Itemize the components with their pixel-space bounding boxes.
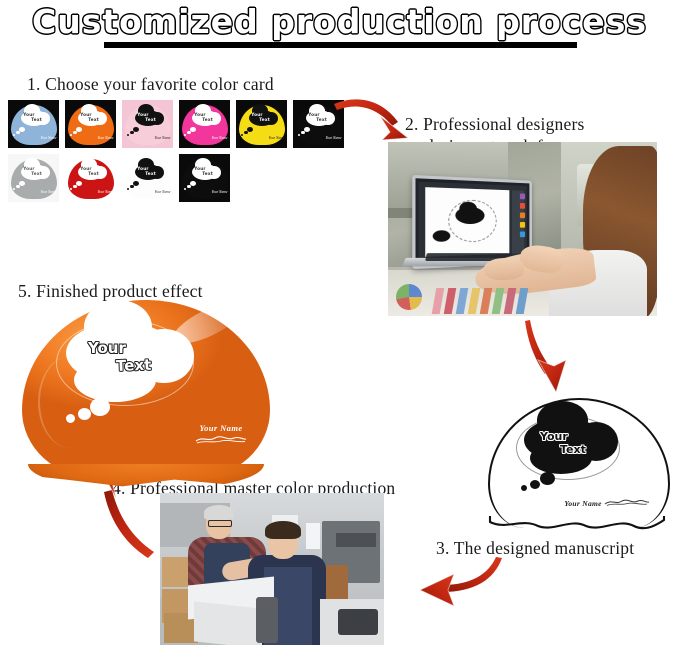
color-card-grid: YourText Your Name YourText Your Name Yo…	[8, 100, 358, 208]
laptop-display	[419, 182, 527, 263]
color-swatch	[520, 231, 525, 237]
cap-text: YourText	[80, 166, 111, 176]
bubble-dot	[66, 414, 75, 423]
color-card-row-1: YourText Your Name YourText Your Name Yo…	[8, 100, 358, 148]
bubble-dot	[130, 185, 134, 189]
printing-machine-roller	[338, 609, 378, 635]
bubble-dot	[187, 131, 191, 135]
cap-name: Your Name	[212, 190, 228, 194]
software-toolbar	[512, 190, 524, 253]
worker-senior-glasses	[208, 520, 232, 527]
bubble-dot	[16, 185, 20, 189]
cap-text: YourText	[251, 112, 282, 122]
color-card-grey[interactable]: YourText Your Name	[8, 154, 59, 202]
arrow-step2-to-step3	[524, 318, 580, 407]
cap-text: YourText	[137, 112, 168, 122]
cap-text: YourText	[194, 112, 225, 122]
cap-custom-name: Your Name	[194, 423, 248, 444]
sample-strip	[456, 288, 469, 314]
color-swatch	[520, 193, 525, 199]
sample-strip	[504, 288, 517, 314]
color-card-hot-pink[interactable]: YourText Your Name	[179, 100, 230, 148]
cap-name: Your Name	[155, 136, 171, 140]
worker-junior-hair	[265, 521, 301, 539]
bubble-dot	[73, 185, 77, 189]
printing-machine-handle	[256, 597, 278, 643]
bubble-dot	[540, 472, 555, 485]
design-software-canvas	[425, 187, 509, 257]
bubble-dot	[244, 131, 248, 135]
bubble-dot	[130, 131, 134, 135]
color-card-black-alt[interactable]: YourText Your Name	[179, 154, 230, 202]
bubble-dot	[90, 398, 110, 416]
cap-name: Your Name	[212, 136, 228, 140]
color-wheel	[396, 284, 422, 310]
cap-text: YourText	[23, 112, 54, 122]
color-sample-strips	[394, 280, 584, 314]
sample-strip	[480, 288, 493, 314]
color-card-red[interactable]: YourText Your Name	[65, 154, 116, 202]
designer-photo	[388, 142, 657, 316]
arrow-step3-to-step4	[398, 556, 504, 621]
infographic-canvas: Customized production process 1. Choose …	[0, 0, 679, 662]
cap-text: YourText	[80, 112, 111, 122]
cap-hem-outline	[488, 514, 666, 530]
finished-product-cap: YourText Your Name	[22, 300, 270, 488]
color-card-light-blue[interactable]: YourText Your Name	[8, 100, 59, 148]
bubble-dot	[530, 480, 540, 489]
cap-name: Your Name	[41, 190, 57, 194]
cap-text: YourText	[23, 166, 54, 176]
page-title: Customized production process	[0, 2, 679, 42]
color-swatch	[520, 203, 525, 209]
wave-ornament-icon	[604, 498, 650, 506]
step-1-label: 1. Choose your favorite color card	[27, 74, 274, 95]
cap-custom-name: Your Name	[564, 498, 650, 508]
cap-name: Your Name	[269, 136, 285, 140]
sample-strip	[432, 288, 445, 314]
paper-stack	[306, 523, 320, 549]
canvas-thought-bubble-small	[433, 230, 451, 242]
color-card-row-2: YourText Your Name YourText Your Name Yo…	[8, 154, 358, 202]
cap-name: Your Name	[98, 190, 114, 194]
sample-strip	[516, 288, 529, 314]
bubble-dot	[73, 131, 77, 135]
designed-manuscript-artwork: YourText Your Name	[488, 398, 666, 538]
bubble-dot	[78, 408, 91, 420]
color-card-light-pink[interactable]: YourText Your Name	[122, 100, 173, 148]
sample-strip	[444, 288, 457, 314]
color-card-yellow[interactable]: YourText Your Name	[236, 100, 287, 148]
cap-name: Your Name	[98, 136, 114, 140]
factory-machine-panel	[336, 533, 376, 547]
sample-strip	[468, 288, 481, 314]
color-swatch	[520, 222, 525, 228]
bubble-dot	[301, 131, 305, 135]
bubble-dot	[521, 485, 527, 491]
title-underline	[104, 42, 577, 48]
cap-text: YourText	[194, 166, 225, 176]
wave-ornament-icon	[194, 434, 248, 444]
step-5-label: 5. Finished product effect	[18, 281, 203, 302]
cap-name: Your Name	[155, 190, 171, 194]
page-title-text: Customized production process	[0, 2, 679, 42]
factory-photo	[160, 493, 384, 645]
bubble-dot	[16, 131, 20, 135]
color-swatch	[520, 212, 525, 218]
cap-custom-text: YourText	[88, 340, 198, 380]
bubble-dot	[187, 185, 191, 189]
worker-senior-hair	[204, 505, 234, 520]
cap-name: Your Name	[41, 136, 57, 140]
cap-text: YourText	[137, 166, 168, 176]
step-2-line-1: 2. Professional designers	[405, 114, 585, 134]
printing-machine-base	[194, 601, 262, 645]
cap-hem	[28, 464, 264, 490]
sample-strip	[492, 288, 505, 314]
color-card-white[interactable]: YourText Your Name	[122, 154, 173, 202]
color-card-orange[interactable]: YourText Your Name	[65, 100, 116, 148]
cap-custom-text: YourText	[540, 430, 624, 456]
